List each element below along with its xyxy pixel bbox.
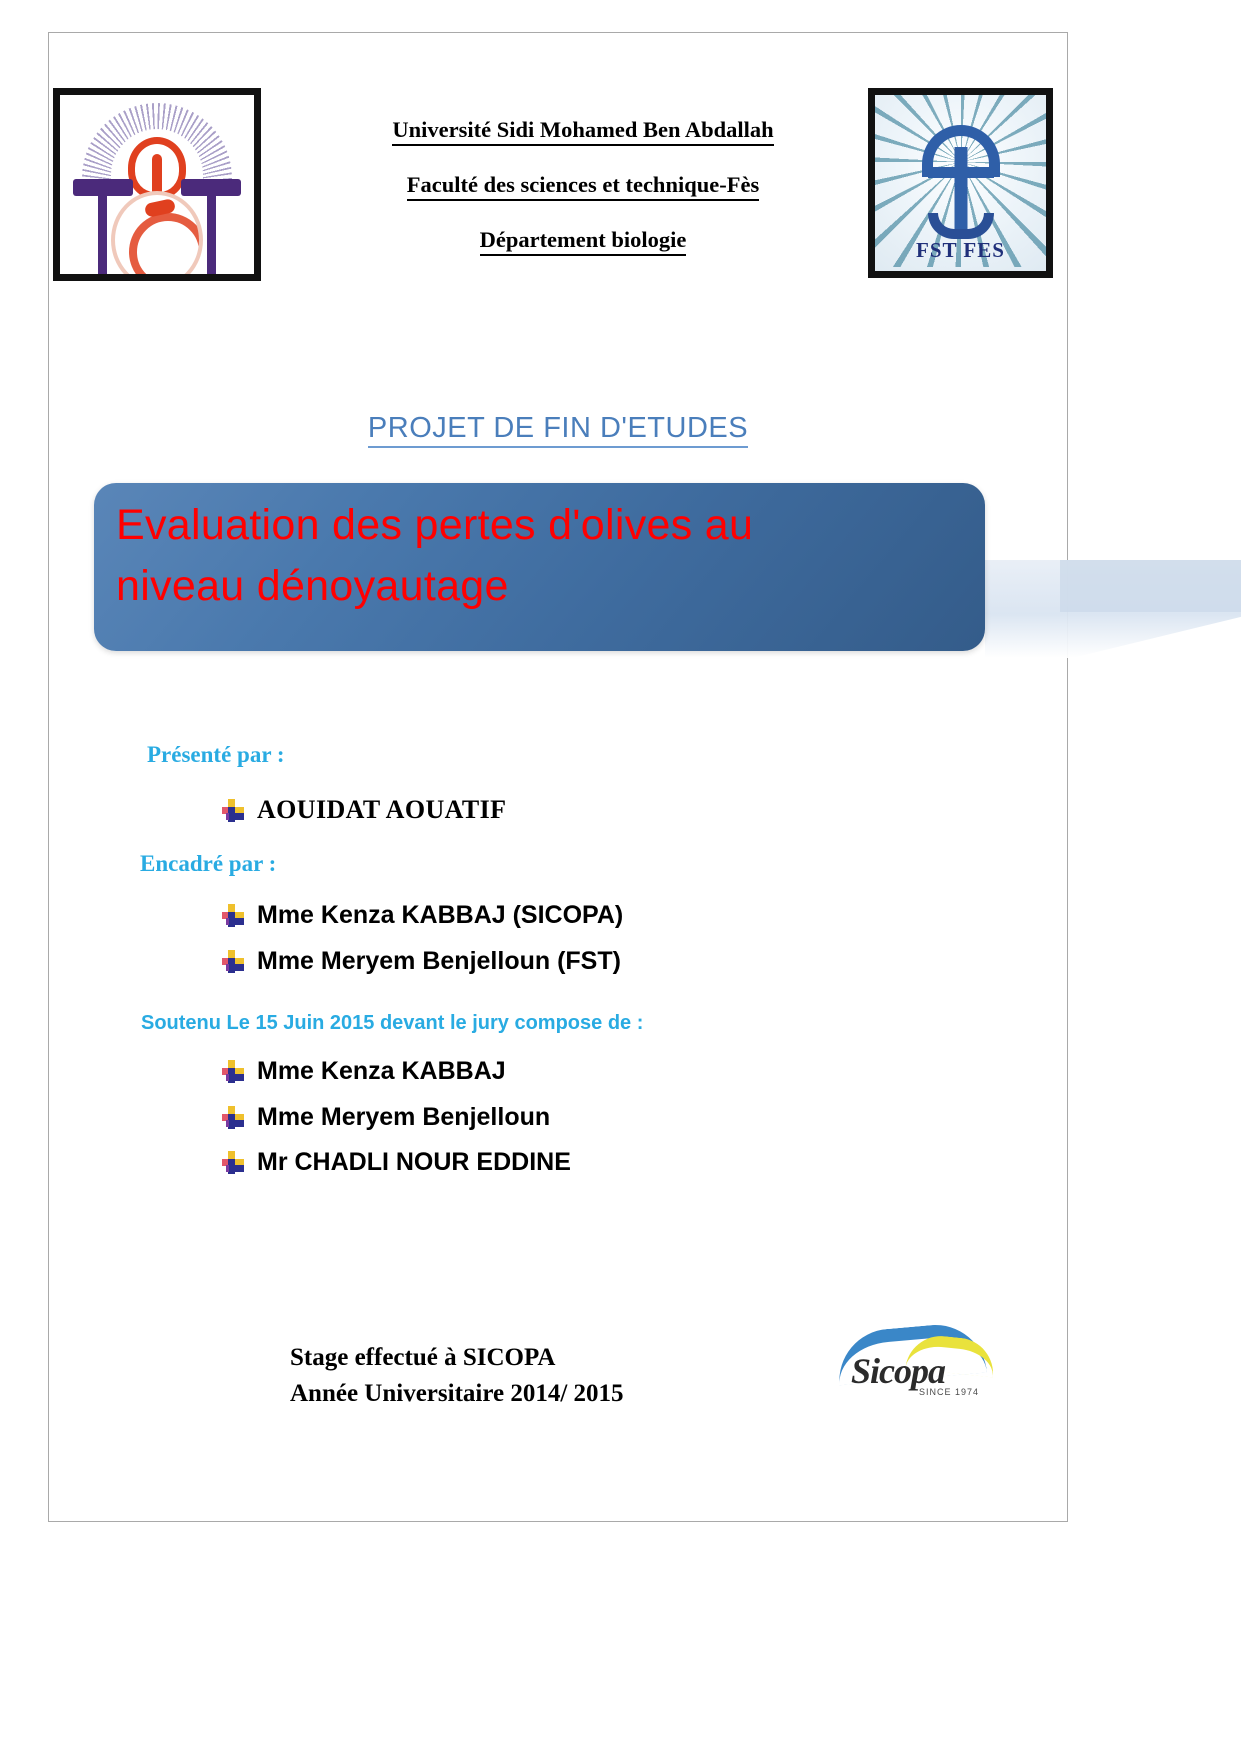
sicopa-since-text: SINCE 1974	[919, 1387, 979, 1397]
project-title-line-1: Evaluation des pertes d'olives au	[116, 495, 971, 556]
crest-flame-icon	[128, 137, 186, 199]
crest-pole-left	[98, 196, 107, 281]
presenter-name: AOUIDAT AOUATIF	[257, 795, 506, 825]
supervisor-name: Mme Kenza KABBAJ (SICOPA)	[257, 901, 623, 930]
supervised-by-label: Encadré par :	[140, 851, 276, 877]
internship-line: Stage effectué à SICOPA	[290, 1340, 624, 1376]
department-name: Département biologie	[298, 227, 868, 253]
project-type-text: PROJET DE FIN D'ETUDES	[368, 412, 748, 448]
footer-block: Stage effectué à SICOPA Année Universita…	[290, 1340, 624, 1411]
list-item: Mme Meryem Benjelloun (FST)	[222, 947, 621, 976]
university-crest-logo	[53, 88, 261, 281]
cross-bullet-icon	[222, 950, 244, 973]
supervisor-name: Mme Meryem Benjelloun (FST)	[257, 947, 621, 976]
document-header: Université Sidi Mohamed Ben Abdallah Fac…	[48, 75, 1068, 290]
project-type-label: PROJET DE FIN D'ETUDES	[48, 412, 1068, 445]
fst-graphic: FST FES	[875, 95, 1046, 271]
presented-by-label: Présenté par :	[147, 742, 285, 768]
university-name: Université Sidi Mohamed Ben Abdallah	[298, 117, 868, 143]
crest-pole-right	[207, 196, 216, 281]
decorative-wedge-bar	[1060, 560, 1241, 612]
cross-bullet-icon	[222, 1060, 244, 1083]
crest-graphic	[60, 95, 254, 274]
jury-member-name: Mme Meryem Benjelloun	[257, 1103, 550, 1132]
cross-bullet-icon	[222, 1151, 244, 1174]
sicopa-wordmark: Sicopa	[851, 1350, 945, 1392]
list-item: Mme Kenza KABBAJ (SICOPA)	[222, 901, 623, 930]
header-title-block: Université Sidi Mohamed Ben Abdallah Fac…	[298, 117, 868, 282]
cross-bullet-icon	[222, 1106, 244, 1129]
crest-medallion-icon	[111, 191, 203, 281]
cover-page: Université Sidi Mohamed Ben Abdallah Fac…	[0, 0, 1241, 1754]
jury-member-name: Mr CHADLI NOUR EDDINE	[257, 1148, 571, 1177]
project-title-banner: Evaluation des pertes d'olives au niveau…	[94, 483, 985, 651]
list-item: Mme Kenza KABBAJ	[222, 1057, 506, 1086]
cross-bullet-icon	[222, 904, 244, 927]
list-item: Mr CHADLI NOUR EDDINE	[222, 1148, 571, 1177]
list-item: AOUIDAT AOUATIF	[222, 795, 506, 825]
jury-label: Soutenu Le 15 Juin 2015 devant le jury c…	[141, 1012, 643, 1035]
fst-logo-label: FST FES	[875, 238, 1046, 263]
faculty-name: Faculté des sciences et technique-Fès	[298, 172, 868, 198]
crest-bar-right	[181, 179, 241, 196]
project-title: Evaluation des pertes d'olives au niveau…	[116, 495, 971, 617]
sicopa-logo: Sicopa SINCE 1974	[835, 1313, 1000, 1408]
project-title-line-2: niveau dénoyautage	[116, 556, 971, 617]
cross-bullet-icon	[222, 799, 244, 822]
academic-year-line: Année Universitaire 2014/ 2015	[290, 1376, 624, 1412]
crest-bar-left	[73, 179, 133, 196]
list-item: Mme Meryem Benjelloun	[222, 1103, 550, 1132]
jury-member-name: Mme Kenza KABBAJ	[257, 1057, 506, 1086]
fst-fes-logo: FST FES	[868, 88, 1053, 278]
